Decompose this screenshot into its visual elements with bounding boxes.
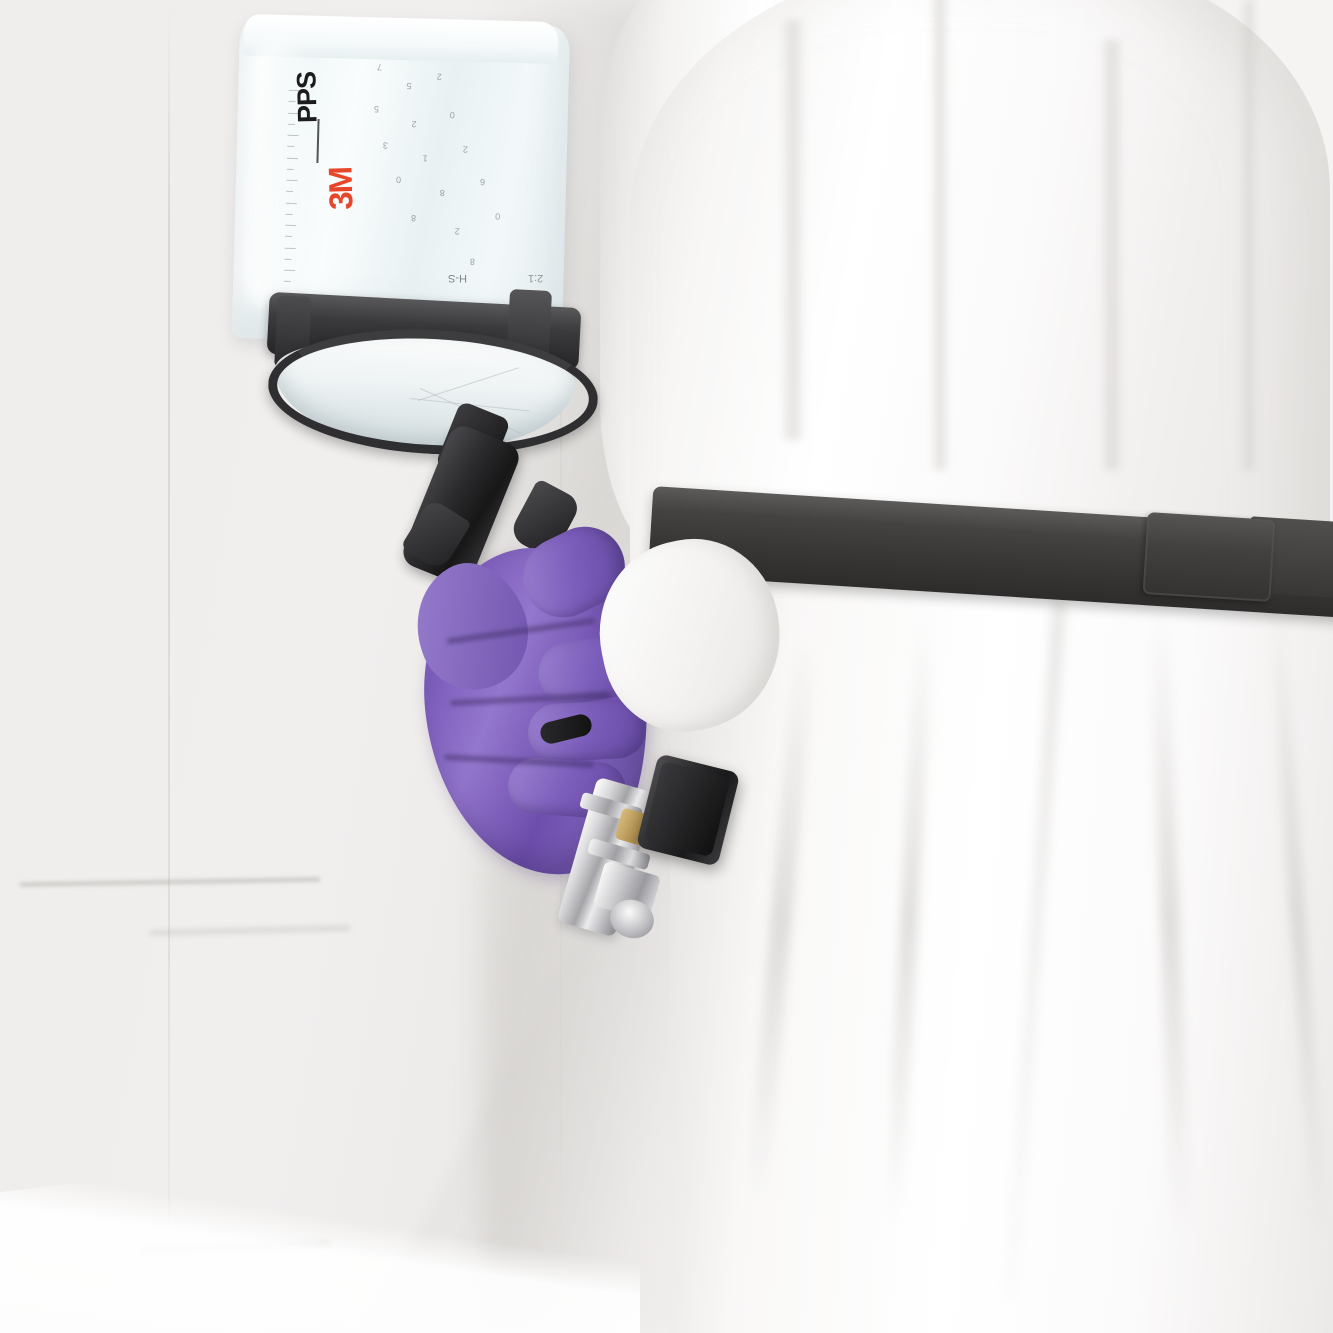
cup-dot-label: 0 <box>450 110 455 120</box>
pps-brand-mark: PPS <box>291 72 323 124</box>
spray-gun-assembly: 7 5 2 5 2 0 3 1 2 0 8 6 8 2 0 8 PPS 3M H… <box>0 0 1333 1333</box>
cup-dot-label: 8 <box>411 213 416 223</box>
promo-image: 7 5 2 5 2 0 3 1 2 0 8 6 8 2 0 8 PPS 3M H… <box>0 0 1333 1333</box>
cup-dot-label: 2 <box>411 119 416 129</box>
cup-dot-label: 3 <box>383 140 388 150</box>
cup-dot-label: 8 <box>440 188 445 198</box>
cup-dot-label: 1 <box>423 153 428 163</box>
cup-marking-right: 2:1 <box>528 272 543 284</box>
cup-dot-label: 8 <box>470 257 475 267</box>
cup-dot-label: 6 <box>480 177 485 187</box>
cup-dot-label: 0 <box>495 211 500 221</box>
cup-dot-label: 2 <box>463 144 468 154</box>
cup-ratio-numbers: 7 5 2 5 2 0 3 1 2 0 8 6 8 2 0 8 <box>349 56 545 311</box>
cup-dot-label: 2 <box>437 72 442 82</box>
cup-dot-label: 2 <box>455 226 460 236</box>
cup-dot-label: 5 <box>406 81 411 91</box>
cup-dot-label: 0 <box>396 175 401 185</box>
cup-marking-left: H-S <box>448 272 467 284</box>
3m-brand-mark: 3M <box>321 168 360 211</box>
cup-dot-label: 7 <box>377 62 382 72</box>
cup-dot-label: 5 <box>374 104 379 114</box>
